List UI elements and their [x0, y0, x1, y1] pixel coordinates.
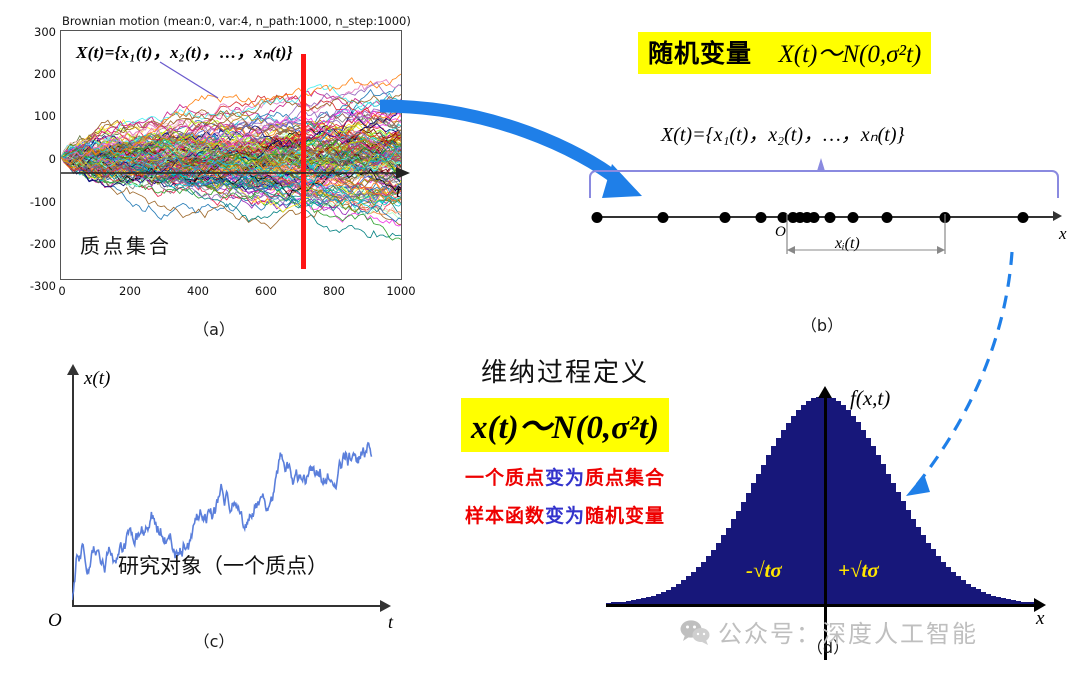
population-brace — [589, 170, 1059, 198]
y-tick-label: 100 — [18, 109, 56, 123]
panel-c-x-axis-arrow — [380, 600, 391, 612]
transition-note-2-b: 变为 — [545, 505, 585, 527]
population-brace-tip — [817, 158, 825, 171]
random-variable-cn-label: 随机变量 — [648, 39, 752, 68]
y-tick-label: 0 — [18, 152, 56, 166]
number-line-dot — [848, 212, 859, 223]
panel-d-axis-label-x: x — [1036, 608, 1044, 630]
number-line-dot — [592, 212, 603, 223]
number-line-dot — [720, 212, 731, 223]
panel-d-gaussian-pdf: f(x,t) x -√tσ +√tσ — [600, 372, 1060, 652]
x-tick-label: 200 — [119, 284, 141, 298]
x-tick-label: 1000 — [386, 284, 415, 298]
y-tick-label: -300 — [18, 279, 56, 293]
panel-c-origin-label: O — [48, 610, 62, 632]
wechat-icon — [680, 619, 710, 645]
panel-c-x-axis — [72, 605, 382, 607]
panel-c-axis-label-y: x(t) — [84, 368, 110, 390]
y-tick-label: -100 — [18, 195, 56, 209]
number-line-dot — [756, 212, 767, 223]
panel-c-cn-label: 研究对象（一个质点） — [118, 550, 328, 580]
panel-b-measure-label: xᵢ(t) — [835, 235, 860, 253]
number-line-dot — [882, 212, 893, 223]
panel-b-set-formula: X(t)={x₁(t)，x₂(t)，…，xₙ(t)} — [661, 118, 905, 147]
gaussian-histogram-bars — [606, 396, 1036, 604]
x-tick-label: 400 — [187, 284, 209, 298]
sigma-left-label: -√tσ — [746, 558, 782, 583]
number-line-dot — [1018, 212, 1029, 223]
caption-a: （a） — [193, 316, 235, 340]
panel-a-cn-label: 质点集合 — [80, 230, 172, 259]
caption-c: （c） — [194, 628, 235, 652]
number-line-dot — [940, 212, 951, 223]
transition-note-1-b: 变为 — [545, 467, 585, 489]
panel-b-axis-label-x: x — [1059, 224, 1067, 244]
x-tick-label: 800 — [323, 284, 345, 298]
panel-c-axis-label-x: t — [388, 612, 393, 633]
random-variable-highlight: 随机变量 X(t)～N(0,σ²t) — [638, 32, 931, 74]
sigma-right-label: +√tσ — [838, 558, 879, 583]
panel-c-single-path: x(t) t O 研究对象（一个质点） — [20, 360, 410, 642]
y-tick-label: 200 — [18, 67, 56, 81]
panel-c-y-axis — [72, 374, 74, 606]
watermark-text: 公众号：深度人工智能 — [718, 614, 978, 649]
time-slice-marker-line — [301, 54, 306, 269]
panel-d-axis-label-y: f(x,t) — [850, 386, 890, 411]
panel-b-origin-label: O — [775, 224, 786, 241]
random-variable-formula: X(t)～N(0,σ²t) — [779, 41, 922, 68]
wechat-watermark: 公众号：深度人工智能 — [680, 614, 978, 649]
panel-b-number-line: X(t)={x₁(t)，x₂(t)，…，xₙ(t)} O x xᵢ(t) — [585, 118, 1071, 308]
caption-b: （b） — [801, 312, 843, 336]
panel-a-axis-label-t: t — [396, 182, 401, 202]
number-line-dot — [825, 212, 836, 223]
panel-d-x-axis — [606, 604, 1036, 607]
panel-d-y-axis-arrow — [818, 386, 832, 398]
number-line-dot — [658, 212, 669, 223]
y-tick-label: -200 — [18, 237, 56, 251]
transition-note-1-a: 一个质点 — [465, 467, 545, 489]
y-tick-label: 300 — [18, 25, 56, 39]
panel-a-set-formula: X(t)={x₁(t)，x₂(t)，…，xₙ(t)} — [76, 38, 293, 63]
panel-a-brownian-figure: Brownian motion (mean:0, var:4, n_path:1… — [18, 14, 410, 302]
panel-c-y-axis-arrow — [67, 364, 79, 375]
number-line-arrowhead — [1053, 211, 1062, 221]
chart-title: Brownian motion (mean:0, var:4, n_path:1… — [62, 14, 412, 28]
x-tick-label: 0 — [58, 284, 65, 298]
transition-note-2-a: 样本函数 — [465, 505, 545, 527]
x-tick-label: 600 — [255, 284, 277, 298]
number-line-dot — [809, 212, 820, 223]
